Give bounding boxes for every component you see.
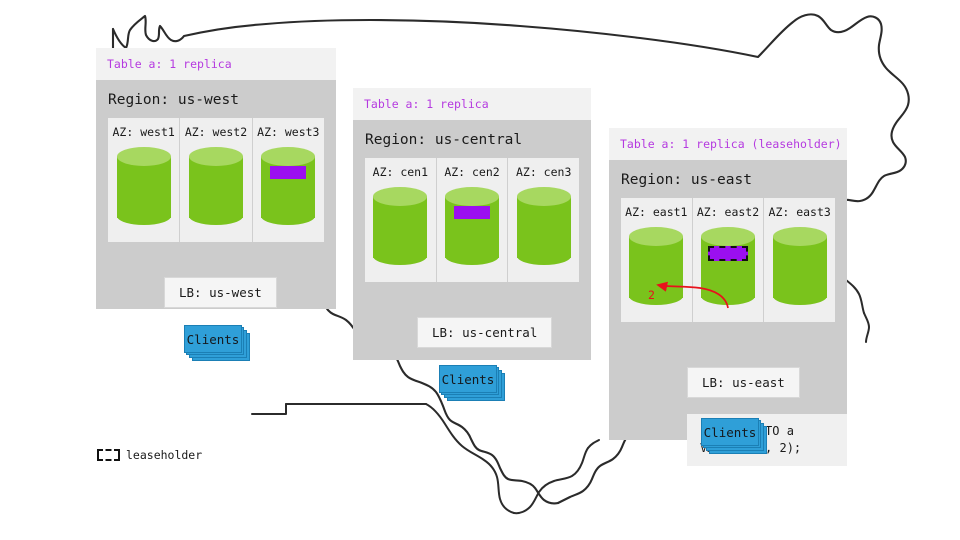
- region-body-us-east: Region: us-east AZ: east1 AZ: east2: [609, 160, 847, 440]
- az-label-cen2: AZ: cen2: [444, 165, 499, 179]
- clients-label: Clients: [442, 372, 495, 387]
- node-cylinder-west1[interactable]: [117, 147, 171, 225]
- az-label-east3: AZ: east3: [769, 205, 831, 219]
- node-cylinder-east2[interactable]: [701, 227, 755, 305]
- table-bar-us-central: Table a: 1 replica: [353, 88, 591, 120]
- node-cylinder-cen2[interactable]: [445, 187, 499, 265]
- region-panel-us-central: Table a: 1 replica Region: us-central AZ…: [353, 88, 591, 360]
- region-panel-us-west: Table a: 1 replica Region: us-west AZ: w…: [96, 48, 336, 309]
- load-balancer-us-central[interactable]: LB: us-central: [417, 317, 552, 348]
- az-row-us-west: AZ: west1 AZ: west2 AZ: [108, 118, 324, 242]
- clients-stack-us-central[interactable]: Clients: [439, 365, 497, 393]
- legend: leaseholder: [97, 448, 202, 462]
- replica-block-leaseholder-east2: [708, 246, 748, 261]
- clients-stack-us-west[interactable]: Clients: [184, 325, 242, 353]
- az-cell-east3[interactable]: AZ: east3: [764, 198, 835, 322]
- az-cell-cen2[interactable]: AZ: cen2: [437, 158, 509, 282]
- node-cylinder-west3[interactable]: [261, 147, 315, 225]
- load-balancer-us-east[interactable]: LB: us-east: [687, 367, 800, 398]
- load-balancer-us-west[interactable]: LB: us-west: [164, 277, 277, 308]
- az-cell-east2[interactable]: AZ: east2: [693, 198, 765, 322]
- diagram-canvas: Table a: 1 replica Region: us-west AZ: w…: [0, 0, 960, 540]
- clients-card-front[interactable]: Clients: [439, 365, 497, 393]
- cylinder-top: [117, 147, 171, 166]
- cylinder-top: [261, 147, 315, 166]
- table-bar-us-west: Table a: 1 replica: [96, 48, 336, 80]
- cylinder-top: [701, 227, 755, 246]
- region-title-us-east: Region: us-east: [609, 160, 847, 198]
- legend-label-leaseholder: leaseholder: [126, 448, 202, 462]
- az-cell-east1[interactable]: AZ: east1: [621, 198, 693, 322]
- replica-block-cen2: [454, 206, 490, 219]
- cylinder-top: [189, 147, 243, 166]
- cylinder-top: [445, 187, 499, 206]
- node-cylinder-east3[interactable]: [773, 227, 827, 305]
- az-label-west1: AZ: west1: [113, 125, 175, 139]
- az-cell-cen3[interactable]: AZ: cen3: [508, 158, 579, 282]
- az-label-west2: AZ: west2: [185, 125, 247, 139]
- az-label-east1: AZ: east1: [625, 205, 687, 219]
- az-row-us-east: AZ: east1 AZ: east2: [621, 198, 835, 322]
- node-cylinder-cen3[interactable]: [517, 187, 571, 265]
- table-bar-us-east: Table a: 1 replica (leaseholder): [609, 128, 847, 160]
- node-cylinder-west2[interactable]: [189, 147, 243, 225]
- region-title-us-central: Region: us-central: [353, 120, 591, 158]
- clients-card-front[interactable]: Clients: [701, 418, 759, 446]
- replica-block-west3: [270, 166, 306, 179]
- clients-label: Clients: [704, 425, 757, 440]
- az-cell-west1[interactable]: AZ: west1: [108, 118, 180, 242]
- cylinder-top: [773, 227, 827, 246]
- leaseholder-swatch-icon: [97, 449, 120, 461]
- az-cell-west3[interactable]: AZ: west3: [253, 118, 324, 242]
- cylinder-top: [629, 227, 683, 246]
- node-cylinder-cen1[interactable]: [373, 187, 427, 265]
- region-title-us-west: Region: us-west: [96, 80, 336, 118]
- az-label-cen3: AZ: cen3: [516, 165, 571, 179]
- cylinder-top: [373, 187, 427, 206]
- az-label-east2: AZ: east2: [697, 205, 759, 219]
- az-cell-cen1[interactable]: AZ: cen1: [365, 158, 437, 282]
- az-cell-west2[interactable]: AZ: west2: [180, 118, 252, 242]
- clients-label: Clients: [187, 332, 240, 347]
- cylinder-top: [517, 187, 571, 206]
- az-label-west3: AZ: west3: [257, 125, 319, 139]
- az-label-cen1: AZ: cen1: [373, 165, 428, 179]
- node-cylinder-east1[interactable]: [629, 227, 683, 305]
- az-row-us-central: AZ: cen1 AZ: cen2: [365, 158, 579, 282]
- arrow-label-2: 2: [648, 288, 655, 302]
- clients-card-front[interactable]: Clients: [184, 325, 242, 353]
- region-body-us-west: Region: us-west AZ: west1 AZ: west2: [96, 80, 336, 309]
- clients-stack-us-east[interactable]: Clients: [701, 418, 759, 446]
- region-panel-us-east: Table a: 1 replica (leaseholder) Region:…: [609, 128, 847, 440]
